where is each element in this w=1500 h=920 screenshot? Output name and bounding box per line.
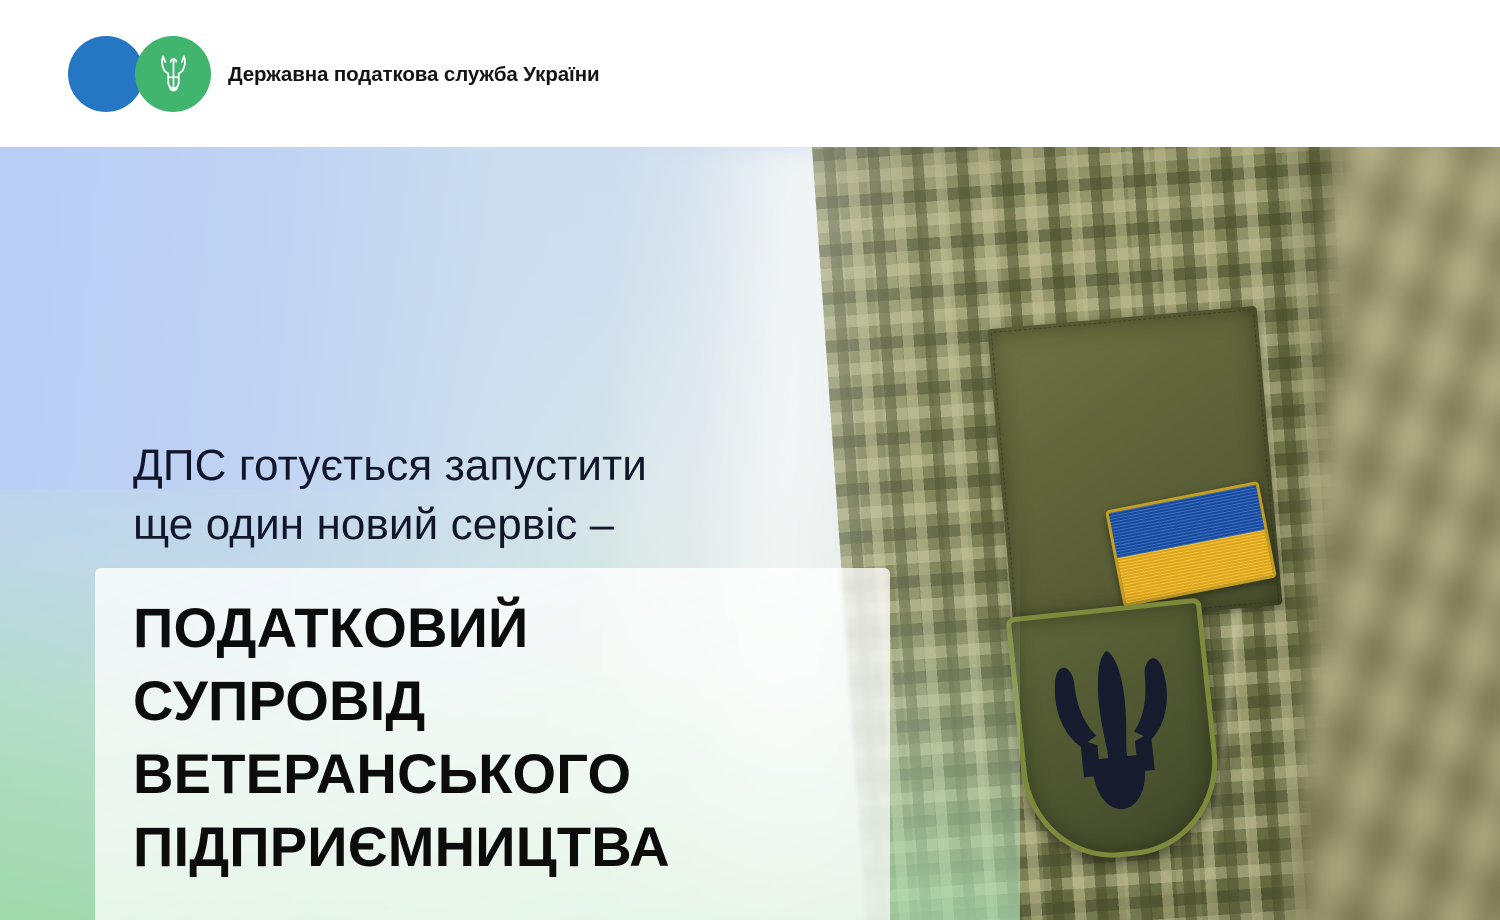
trident-icon (157, 52, 190, 96)
logo-org-name: Державна податкова служба України (228, 62, 600, 87)
header-bar: Державна податкова служба України (0, 0, 1500, 147)
logo-marks (68, 36, 211, 112)
dps-logo[interactable]: Державна податкова служба України (68, 36, 600, 112)
hero-stage: ДПС готується запустити ще один новий се… (0, 147, 1500, 920)
banner-title: ПОДАТКОВИЙ СУПРОВІД ВЕТЕРАНСЬКОГО ПІДПРИ… (133, 591, 893, 883)
banner-root: Державна податкова служба України (0, 0, 1500, 920)
logo-blue-circle-icon (68, 36, 144, 112)
banner-kicker: ДПС готується запустити ще один новий се… (133, 436, 647, 554)
